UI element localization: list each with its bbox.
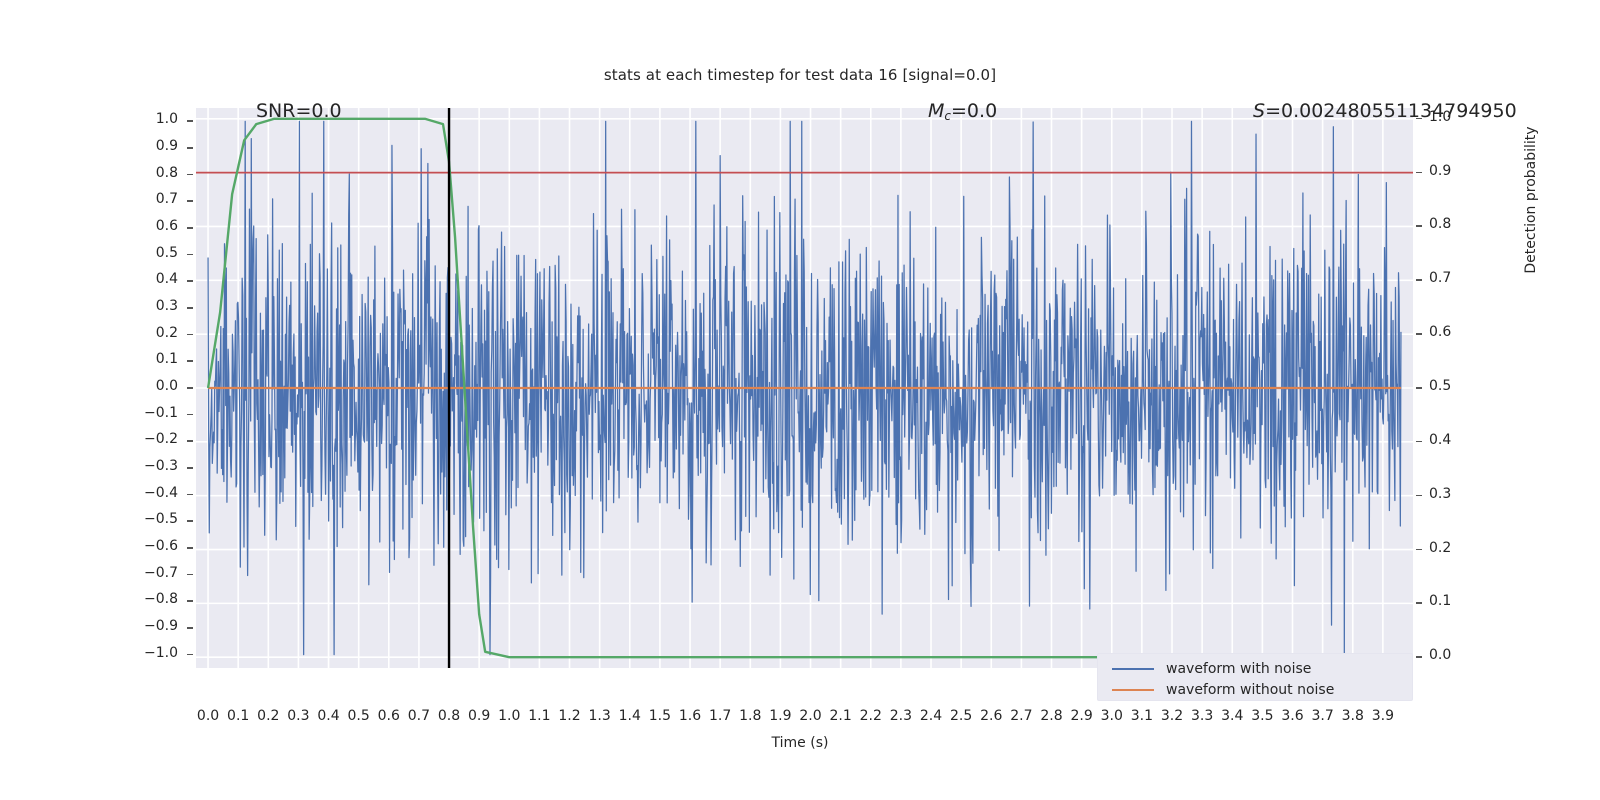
mc-symbol: M	[928, 100, 944, 122]
legend-item-with-noise[interactable]: waveform with noise	[1098, 658, 1412, 679]
y-tick-left-12: −0.2	[0, 431, 178, 447]
figure-canvas: stats at each timestep for test data 16 …	[0, 0, 1600, 800]
y-tickmark-left-12	[187, 440, 193, 442]
y-tickmark-left-11	[187, 414, 193, 416]
y-tick-left-11: −0.1	[0, 405, 178, 421]
y-tickmark-left-8	[187, 334, 193, 336]
y-tick-left-17: −0.7	[0, 565, 178, 581]
y-tick-right-8: 0.2	[1429, 540, 1451, 556]
mc-value: =0.0	[951, 100, 997, 122]
y-tick-left-19: −0.9	[0, 618, 178, 634]
y-axis-label-right: Detection probability	[1523, 100, 1539, 300]
y-tickmark-left-16	[187, 547, 193, 549]
score-annotation: S=0.002480551134794950	[1253, 100, 1517, 122]
y-tick-left-18: −0.8	[0, 591, 178, 607]
y-tickmark-left-13	[187, 467, 193, 469]
y-tickmark-right-4	[1416, 333, 1422, 335]
y-tickmark-left-0	[187, 120, 193, 122]
s-symbol: S	[1253, 100, 1265, 122]
y-tick-left-0: 1.0	[0, 111, 178, 127]
y-tickmark-left-10	[187, 387, 193, 389]
legend-label-without-noise: waveform without noise	[1166, 682, 1334, 698]
y-tickmark-left-7	[187, 307, 193, 309]
y-tick-left-3: 0.7	[0, 191, 178, 207]
y-tick-left-10: 0.0	[0, 378, 178, 394]
y-tick-right-2: 0.8	[1429, 216, 1451, 232]
y-tick-left-14: −0.4	[0, 485, 178, 501]
y-tick-left-6: 0.4	[0, 271, 178, 287]
x-tick-39: 3.9	[1365, 708, 1401, 724]
y-tickmark-left-17	[187, 574, 193, 576]
legend-label-with-noise: waveform with noise	[1166, 661, 1311, 677]
y-tickmark-left-5	[187, 254, 193, 256]
y-tickmark-right-10	[1416, 656, 1422, 658]
legend-item-without-noise[interactable]: waveform without noise	[1098, 679, 1412, 700]
y-tick-left-13: −0.3	[0, 458, 178, 474]
page-title: stats at each timestep for test data 16 …	[0, 66, 1600, 84]
y-tick-left-8: 0.2	[0, 325, 178, 341]
y-tickmark-left-9	[187, 360, 193, 362]
y-tick-left-5: 0.5	[0, 245, 178, 261]
y-tickmark-right-6	[1416, 441, 1422, 443]
y-tickmark-right-7	[1416, 495, 1422, 497]
y-tick-right-10: 0.0	[1429, 647, 1451, 663]
s-value: =0.002480551134794950	[1265, 100, 1517, 122]
legend-swatch-with-noise	[1112, 668, 1154, 670]
y-tickmark-left-1	[187, 147, 193, 149]
y-tick-right-3: 0.7	[1429, 270, 1451, 286]
y-tickmark-left-19	[187, 627, 193, 629]
legend[interactable]: waveform with noise waveform without noi…	[1097, 653, 1413, 701]
y-tick-left-16: −0.6	[0, 538, 178, 554]
mc-subscript: c	[944, 109, 951, 123]
y-tickmark-right-3	[1416, 279, 1422, 281]
y-tickmark-right-1	[1416, 172, 1422, 174]
y-tickmark-left-3	[187, 200, 193, 202]
chirp-mass-annotation: Mc=0.0	[928, 100, 997, 122]
y-tick-left-4: 0.6	[0, 218, 178, 234]
y-tickmark-left-18	[187, 600, 193, 602]
y-tickmark-left-20	[187, 654, 193, 656]
y-tick-right-5: 0.5	[1429, 378, 1451, 394]
y-tick-left-7: 0.3	[0, 298, 178, 314]
y-tickmark-right-0	[1416, 118, 1422, 120]
y-tick-left-9: 0.1	[0, 351, 178, 367]
plot-area[interactable]	[196, 108, 1413, 668]
plot-svg	[196, 108, 1413, 668]
y-tickmark-left-14	[187, 494, 193, 496]
y-tick-left-15: −0.5	[0, 511, 178, 527]
y-tick-left-20: −1.0	[0, 645, 178, 661]
y-tick-right-1: 0.9	[1429, 163, 1451, 179]
y-tickmark-left-2	[187, 174, 193, 176]
y-tickmark-right-8	[1416, 549, 1422, 551]
y-tick-right-9: 0.1	[1429, 593, 1451, 609]
snr-annotation: SNR=0.0	[256, 100, 342, 122]
y-tickmark-left-6	[187, 280, 193, 282]
y-tickmark-right-9	[1416, 602, 1422, 604]
y-tick-left-2: 0.8	[0, 165, 178, 181]
y-tick-right-4: 0.6	[1429, 324, 1451, 340]
legend-swatch-without-noise	[1112, 689, 1154, 691]
y-tick-right-6: 0.4	[1429, 432, 1451, 448]
y-tick-left-1: 0.9	[0, 138, 178, 154]
y-tickmark-left-4	[187, 227, 193, 229]
y-tickmark-left-15	[187, 520, 193, 522]
x-axis-label: Time (s)	[0, 735, 1600, 751]
y-tickmark-right-5	[1416, 387, 1422, 389]
y-tickmark-right-2	[1416, 225, 1422, 227]
y-tick-right-7: 0.3	[1429, 486, 1451, 502]
